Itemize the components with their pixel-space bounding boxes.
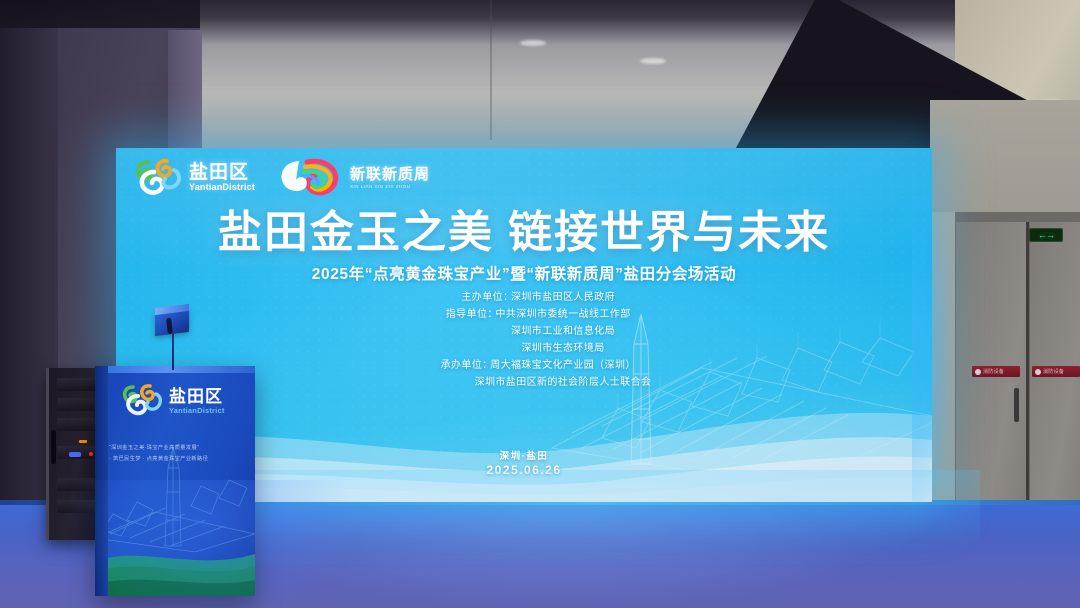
yantian-swirl-icon xyxy=(121,382,165,420)
yantian-logo-cn: 盐田区 xyxy=(189,163,255,182)
fire-sign-label: 消防设备 xyxy=(1043,368,1064,375)
fire-sign-label: 消防设备 xyxy=(983,368,1004,375)
fire-icon xyxy=(1035,369,1041,375)
organizer-label: 指导单位 xyxy=(417,305,487,320)
organizer-value: 深圳市工业和信息化局 xyxy=(511,322,615,337)
organizer-value: 周大福珠宝文化产业园（深圳） xyxy=(490,356,636,371)
yantian-district-logo: 盐田区 YantianDistrict xyxy=(134,156,255,200)
podium-logo-cn: 盐田区 xyxy=(169,388,225,405)
organizer-colon xyxy=(467,373,475,388)
organizer-row: 指导单位 ： 中共深圳市委统一战线工作部 xyxy=(417,305,630,320)
wall-right-upper xyxy=(930,100,1080,212)
rack-status-led xyxy=(89,452,93,456)
event-hall-photo: ←→ 消防设备 消防设备 xyxy=(0,0,1080,608)
organizer-label xyxy=(443,339,513,354)
ceiling-light xyxy=(640,58,666,64)
fire-equipment-sign: 消防设备 xyxy=(1032,366,1080,377)
organizer-row: 深圳市盐田区新的社会阶层人士联合会 xyxy=(397,373,652,388)
yantian-logo-en: YantianDistrict xyxy=(189,183,255,192)
event-title-sub: 2025年“点亮黄金珠宝产业”暨“新联新质周”盐田分会场活动 xyxy=(116,262,932,284)
organizer-label: 主办单位 xyxy=(433,288,503,303)
fire-icon xyxy=(975,369,981,375)
emergency-exit-sign: ←→ xyxy=(1029,228,1063,242)
podium-wave-graphic xyxy=(95,538,255,596)
organizer-row: 主办单位 ： 深圳市盐田区人民政府 xyxy=(433,288,615,303)
xinlian-ribbon-icon xyxy=(277,156,343,200)
floor-light-pool xyxy=(180,496,940,608)
microphone-stand xyxy=(172,330,174,370)
organizer-label: 承办单位 xyxy=(412,356,482,371)
podium-slogan-line: · 筑巴民生梦 · 点亮黄金珠宝产业新路径 xyxy=(109,455,249,462)
xinlian-logo-text: 新联新质周 XIN LIAN XIN ZHI ZHOU xyxy=(350,167,430,190)
speaker-podium: 盐田区 YantianDistrict “深圳金玉之美·珠宝产业高质量发展” ·… xyxy=(95,366,255,596)
xinlian-xinzhi-logo: 新联新质周 XIN LIAN XIN ZHI ZHOU xyxy=(277,156,430,200)
door-handle[interactable] xyxy=(1014,388,1019,422)
organizer-value: 中共深圳市委统一战线工作部 xyxy=(495,305,630,320)
ceiling-light xyxy=(520,40,546,46)
ceiling-seam xyxy=(490,0,492,140)
xinlian-logo-en: XIN LIAN XIN ZHI ZHOU xyxy=(350,185,430,190)
podium-top-edge xyxy=(95,366,255,373)
podium-slogan-line: “深圳金玉之美·珠宝产业高质量发展” xyxy=(109,444,249,451)
rack-vent-slot xyxy=(51,430,56,464)
organizer-value: 深圳市盐田区新的社会阶层人士联合会 xyxy=(475,373,652,388)
screen-logo-row: 盐田区 YantianDistrict 新联新质周 XIN LIAN XIN Z… xyxy=(134,156,430,200)
rack-display-led xyxy=(69,452,81,457)
podium-slogan-block: “深圳金玉之美·珠宝产业高质量发展” · 筑巴民生梦 · 点亮黄金珠宝产业新路径 xyxy=(109,444,249,462)
organizer-colon: ： xyxy=(503,288,511,303)
organizer-colon: ： xyxy=(482,356,490,371)
organizer-label xyxy=(397,373,467,388)
podium-yantian-logo: 盐田区 YantianDistrict xyxy=(121,382,225,420)
podium-logo-en: YantianDistrict xyxy=(169,407,225,415)
event-title-main: 盐田金玉之美 链接世界与未来 xyxy=(116,210,932,256)
podium-logo-text: 盐田区 YantianDistrict xyxy=(169,388,225,415)
xinlian-logo-cn: 新联新质周 xyxy=(350,167,430,182)
rack-status-led xyxy=(79,440,87,443)
organizer-row: 深圳市工业和信息化局 xyxy=(433,322,615,337)
exit-arrow-icon: ←→ xyxy=(1038,231,1054,240)
door-header xyxy=(955,212,1080,222)
yantian-swirl-icon xyxy=(134,156,184,200)
yantian-logo-text: 盐田区 YantianDistrict xyxy=(189,163,255,194)
event-title-block: 盐田金玉之美 链接世界与未来 2025年“点亮黄金珠宝产业”暨“新联新质周”盐田… xyxy=(116,210,932,284)
podium-side-panel xyxy=(95,366,108,596)
organizer-label xyxy=(433,322,503,337)
organizer-value: 深圳市盐田区人民政府 xyxy=(511,288,615,303)
organizer-row: 深圳市生态环境局 xyxy=(443,339,604,354)
organizer-colon xyxy=(503,322,511,337)
organizer-value: 深圳市生态环境局 xyxy=(521,339,604,354)
organizer-row: 承办单位 ： 周大福珠宝文化产业园（深圳） xyxy=(412,356,636,371)
fire-equipment-sign: 消防设备 xyxy=(972,366,1020,377)
